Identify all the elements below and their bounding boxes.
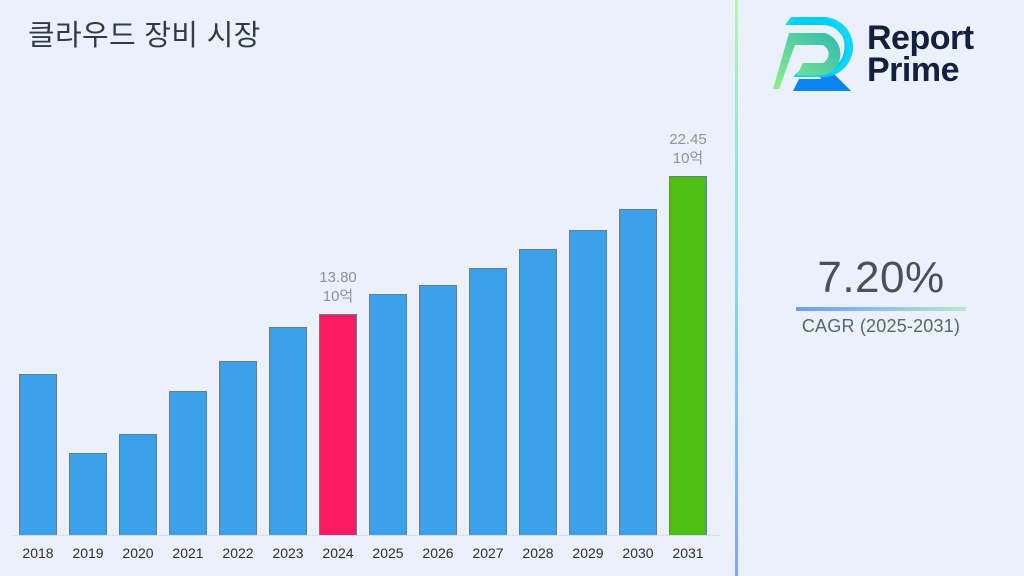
x-axis-label-2018: 2018 — [22, 545, 53, 561]
bar-rect-2030[interactable] — [619, 209, 657, 535]
x-axis-label-2028: 2028 — [522, 545, 553, 561]
cagr-divider-rule — [796, 307, 966, 311]
cagr-block: 7.20% CAGR (2025-2031) — [738, 255, 1024, 337]
bar-2021[interactable] — [169, 390, 207, 535]
x-axis-label-2022: 2022 — [222, 545, 253, 561]
x-axis-label-2021: 2021 — [172, 545, 203, 561]
bar-rect-2021[interactable] — [169, 391, 207, 535]
report-prime-r-logo-icon — [773, 17, 857, 93]
bar-2018[interactable] — [19, 373, 57, 535]
cagr-caption: CAGR (2025-2031) — [738, 316, 1024, 337]
bar-unit-2031: 10억 — [669, 149, 707, 168]
bar-2025[interactable] — [369, 293, 407, 535]
bar-2019[interactable] — [69, 452, 107, 535]
bar-rect-2020[interactable] — [119, 434, 157, 535]
bar-2028[interactable] — [519, 248, 557, 535]
brand-name: Report Prime — [867, 23, 974, 87]
bar-2023[interactable] — [269, 326, 307, 535]
bar-rect-2031[interactable] — [669, 176, 707, 535]
x-axis-label-2030: 2030 — [622, 545, 653, 561]
bar-rect-2018[interactable] — [19, 374, 57, 535]
bar-2026[interactable] — [419, 284, 457, 535]
brand-name-line2: Prime — [867, 51, 959, 89]
x-axis-label-2027: 2027 — [472, 545, 503, 561]
chart-baseline — [12, 535, 720, 536]
bar-value-label-2024: 13.8010억 — [319, 268, 357, 306]
bar-rect-2028[interactable] — [519, 249, 557, 535]
report-slide: 클라우드 장비 시장 20182019202020212022202313.80… — [0, 0, 1024, 576]
bar-value-label-2031: 22.4510억 — [669, 130, 707, 168]
x-axis-label-2024: 2024 — [322, 545, 353, 561]
bar-unit-2024: 10억 — [319, 287, 357, 306]
x-axis-label-2025: 2025 — [372, 545, 403, 561]
bar-value-2024: 13.80 — [319, 268, 357, 287]
x-axis-label-2026: 2026 — [422, 545, 453, 561]
bar-rect-2026[interactable] — [419, 285, 457, 535]
bar-2020[interactable] — [119, 433, 157, 535]
x-axis-label-2019: 2019 — [72, 545, 103, 561]
cagr-value: 7.20% — [738, 255, 1024, 301]
bar-rect-2022[interactable] — [219, 361, 257, 535]
bar-rect-2027[interactable] — [469, 268, 507, 535]
bar-rect-2019[interactable] — [69, 453, 107, 535]
bar-2029[interactable] — [569, 229, 607, 535]
bar-rect-2025[interactable] — [369, 294, 407, 535]
bar-2022[interactable] — [219, 360, 257, 535]
x-axis-label-2031: 2031 — [672, 545, 703, 561]
bar-chart: 20182019202020212022202313.8010억20242025… — [0, 0, 735, 576]
brand-logo: Report Prime — [773, 15, 999, 95]
bar-rect-2029[interactable] — [569, 230, 607, 535]
right-panel: Report Prime 7.20% CAGR (2025-2031) — [738, 0, 1024, 576]
bar-2031[interactable]: 22.4510억 — [669, 175, 707, 535]
bar-2027[interactable] — [469, 267, 507, 535]
bar-2024[interactable]: 13.8010억 — [319, 313, 357, 535]
bar-2030[interactable] — [619, 208, 657, 535]
bar-rect-2023[interactable] — [269, 327, 307, 535]
x-axis-label-2029: 2029 — [572, 545, 603, 561]
x-axis-label-2020: 2020 — [122, 545, 153, 561]
x-axis-label-2023: 2023 — [272, 545, 303, 561]
bar-rect-2024[interactable] — [319, 314, 357, 535]
bar-value-2031: 22.45 — [669, 130, 707, 149]
